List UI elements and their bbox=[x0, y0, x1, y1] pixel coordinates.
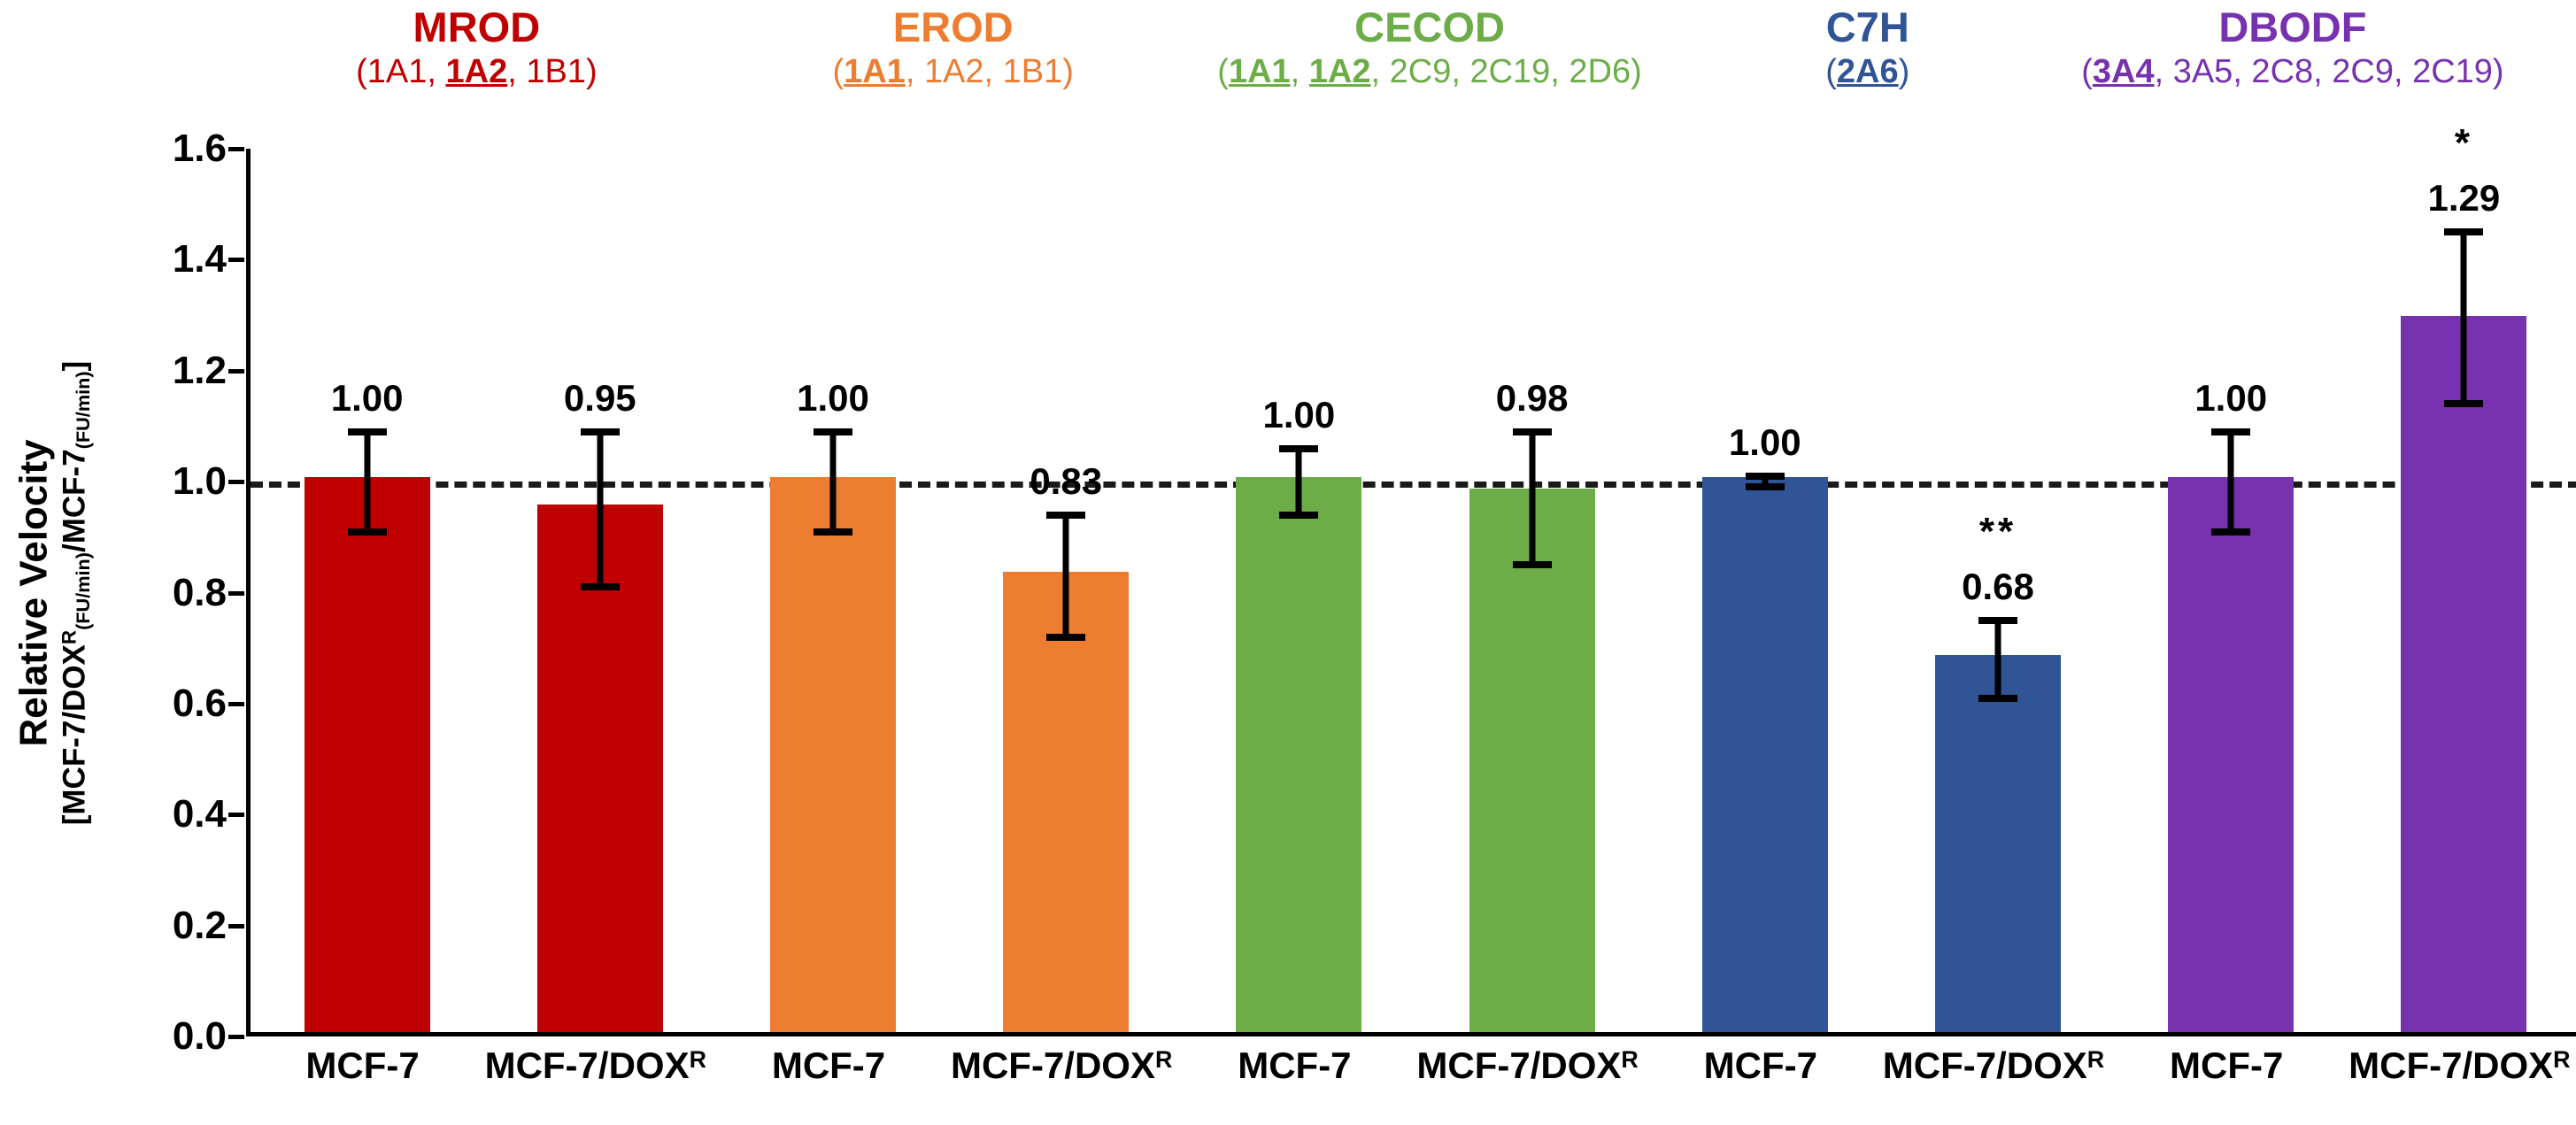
y-tick-mark bbox=[228, 480, 244, 484]
y-tick-label: 1.6 bbox=[173, 127, 227, 171]
group-title: DBODF bbox=[1005, 5, 2576, 50]
y-tick-mark bbox=[228, 147, 244, 151]
error-cap-3-top bbox=[1046, 512, 1085, 519]
error-cap-0-bottom bbox=[348, 528, 387, 536]
y-tick-mark bbox=[228, 591, 244, 596]
bar-9[interactable] bbox=[2401, 316, 2526, 1032]
bar-2[interactable] bbox=[770, 477, 896, 1032]
x-axis-label-4: MCF-7 bbox=[1238, 1044, 1351, 1087]
x-axis-label-1: MCF-7/DOXR bbox=[485, 1044, 706, 1087]
bar-value-label-2: 1.00 bbox=[797, 377, 869, 420]
error-cap-5-top bbox=[1513, 428, 1552, 435]
bar-0[interactable] bbox=[305, 477, 430, 1032]
bar-value-label-1: 0.95 bbox=[564, 377, 636, 420]
error-bar-8 bbox=[2228, 432, 2234, 532]
x-axis-label-2: MCF-7 bbox=[772, 1044, 885, 1087]
plot-inner: 1.000.951.000.831.000.981.000.68**1.001.… bbox=[251, 149, 2576, 1032]
error-cap-6-top bbox=[1746, 473, 1785, 480]
chart-page: MROD(1A1, 1A2, 1B1)EROD(1A1, 1A2, 1B1)CE… bbox=[0, 0, 2576, 1125]
y-tick-label: 0.0 bbox=[173, 1014, 227, 1059]
y-tick-label: 0.6 bbox=[173, 682, 227, 726]
error-cap-5-bottom bbox=[1513, 561, 1552, 568]
y-tick-mark bbox=[228, 702, 244, 706]
bar-value-label-8: 1.00 bbox=[2194, 377, 2267, 420]
y-tick-label: 1.4 bbox=[173, 237, 227, 281]
y-tick-mark bbox=[228, 369, 244, 374]
bar-6[interactable] bbox=[1702, 477, 1828, 1032]
error-cap-1-bottom bbox=[581, 583, 620, 590]
error-bar-9 bbox=[2461, 232, 2467, 404]
y-tick-label: 1.0 bbox=[173, 459, 227, 504]
bar-5[interactable] bbox=[1469, 489, 1595, 1032]
y-tick-label: 0.8 bbox=[173, 571, 227, 615]
error-cap-3-bottom bbox=[1046, 634, 1085, 641]
bar-value-label-4: 1.00 bbox=[1263, 394, 1336, 436]
error-bar-5 bbox=[1529, 432, 1535, 565]
error-bar-7 bbox=[1995, 620, 2001, 698]
y-axis-ticks: 0.00.20.40.60.81.01.21.41.6 bbox=[0, 149, 246, 1036]
error-cap-2-top bbox=[814, 428, 852, 435]
bar-value-label-7: 0.68 bbox=[1962, 566, 2034, 608]
bar-7[interactable] bbox=[1935, 655, 2061, 1032]
bar-8[interactable] bbox=[2168, 477, 2294, 1032]
x-axis-label-0: MCF-7 bbox=[305, 1044, 419, 1087]
x-axis-label-6: MCF-7 bbox=[1704, 1044, 1817, 1087]
error-cap-4-bottom bbox=[1279, 512, 1318, 519]
bar-value-label-9: 1.29 bbox=[2428, 177, 2501, 220]
error-bar-0 bbox=[364, 432, 370, 532]
y-tick-mark bbox=[228, 1035, 244, 1039]
group-header-row: MROD(1A1, 1A2, 1B1)EROD(1A1, 1A2, 1B1)CE… bbox=[0, 0, 2576, 133]
x-axis-labels: MCF-7MCF-7/DOXRMCF-7MCF-7/DOXRMCF-7MCF-7… bbox=[246, 1044, 2576, 1115]
bar-value-label-3: 0.83 bbox=[1030, 460, 1102, 503]
error-cap-8-bottom bbox=[2211, 528, 2250, 536]
error-cap-7-top bbox=[1978, 617, 2017, 624]
error-cap-9-top bbox=[2444, 228, 2483, 235]
error-cap-8-top bbox=[2211, 428, 2250, 435]
significance-marker-7: ** bbox=[1979, 510, 2017, 554]
y-tick-label: 0.2 bbox=[173, 904, 227, 948]
error-cap-7-bottom bbox=[1978, 695, 2017, 702]
bar-value-label-5: 0.98 bbox=[1496, 377, 1569, 420]
error-bar-4 bbox=[1296, 449, 1302, 515]
error-cap-9-bottom bbox=[2444, 400, 2483, 407]
x-axis-label-3: MCF-7/DOXR bbox=[951, 1044, 1172, 1087]
error-cap-0-top bbox=[348, 428, 387, 435]
y-tick-label: 0.4 bbox=[173, 792, 227, 836]
x-axis-label-5: MCF-7/DOXR bbox=[1416, 1044, 1638, 1087]
y-tick-mark bbox=[228, 258, 244, 262]
x-axis-label-8: MCF-7 bbox=[2170, 1044, 2283, 1087]
error-cap-2-bottom bbox=[814, 528, 852, 536]
y-tick-mark bbox=[228, 813, 244, 817]
x-axis-label-7: MCF-7/DOXR bbox=[1883, 1044, 2104, 1087]
bar-3[interactable] bbox=[1003, 572, 1129, 1032]
error-cap-1-top bbox=[581, 428, 620, 435]
plot-area: 1.000.951.000.831.000.981.000.68**1.001.… bbox=[246, 149, 2576, 1036]
error-cap-6-bottom bbox=[1746, 483, 1785, 490]
error-bar-3 bbox=[1063, 515, 1069, 637]
error-bar-1 bbox=[597, 432, 603, 588]
error-cap-4-top bbox=[1279, 445, 1318, 452]
x-axis-label-9: MCF-7/DOXR bbox=[2348, 1044, 2570, 1087]
group-enzyme-list: (3A4, 3A5, 2C8, 2C9, 2C19) bbox=[1005, 54, 2576, 90]
error-bar-2 bbox=[830, 432, 837, 532]
bar-4[interactable] bbox=[1236, 477, 1361, 1032]
significance-marker-9: * bbox=[2455, 121, 2473, 166]
y-tick-mark bbox=[228, 924, 244, 929]
bar-value-label-0: 1.00 bbox=[331, 377, 404, 420]
y-tick-label: 1.2 bbox=[173, 349, 227, 393]
bar-value-label-6: 1.00 bbox=[1729, 421, 1801, 464]
group-header-dbodf: DBODF(3A4, 3A5, 2C8, 2C9, 2C19) bbox=[1005, 5, 2576, 90]
